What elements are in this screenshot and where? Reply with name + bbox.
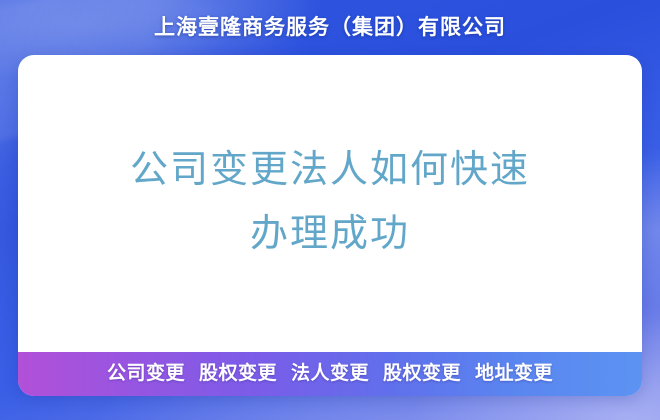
tag-address-change[interactable]: 地址变更 [475, 362, 553, 386]
tag-equity-change[interactable]: 股权变更 [199, 362, 277, 386]
tag-equity-change-2[interactable]: 股权变更 [383, 362, 461, 386]
poster-canvas: 上海壹隆商务服务（集团）有限公司 公司变更法人如何快速 办理成功 公司变更 股权… [0, 0, 660, 420]
tag-legal-rep-change[interactable]: 法人变更 [291, 362, 369, 386]
card-body: 公司变更法人如何快速 办理成功 [18, 55, 642, 352]
headline-line-2: 办理成功 [250, 201, 410, 265]
headline-line-1: 公司变更法人如何快速 [130, 137, 530, 201]
company-title: 上海壹隆商务服务（集团）有限公司 [0, 14, 660, 42]
service-tag-bar: 公司变更 股权变更 法人变更 股权变更 地址变更 [18, 352, 642, 396]
tag-company-change[interactable]: 公司变更 [107, 362, 185, 386]
content-card: 公司变更法人如何快速 办理成功 公司变更 股权变更 法人变更 股权变更 地址变更 [18, 55, 642, 396]
